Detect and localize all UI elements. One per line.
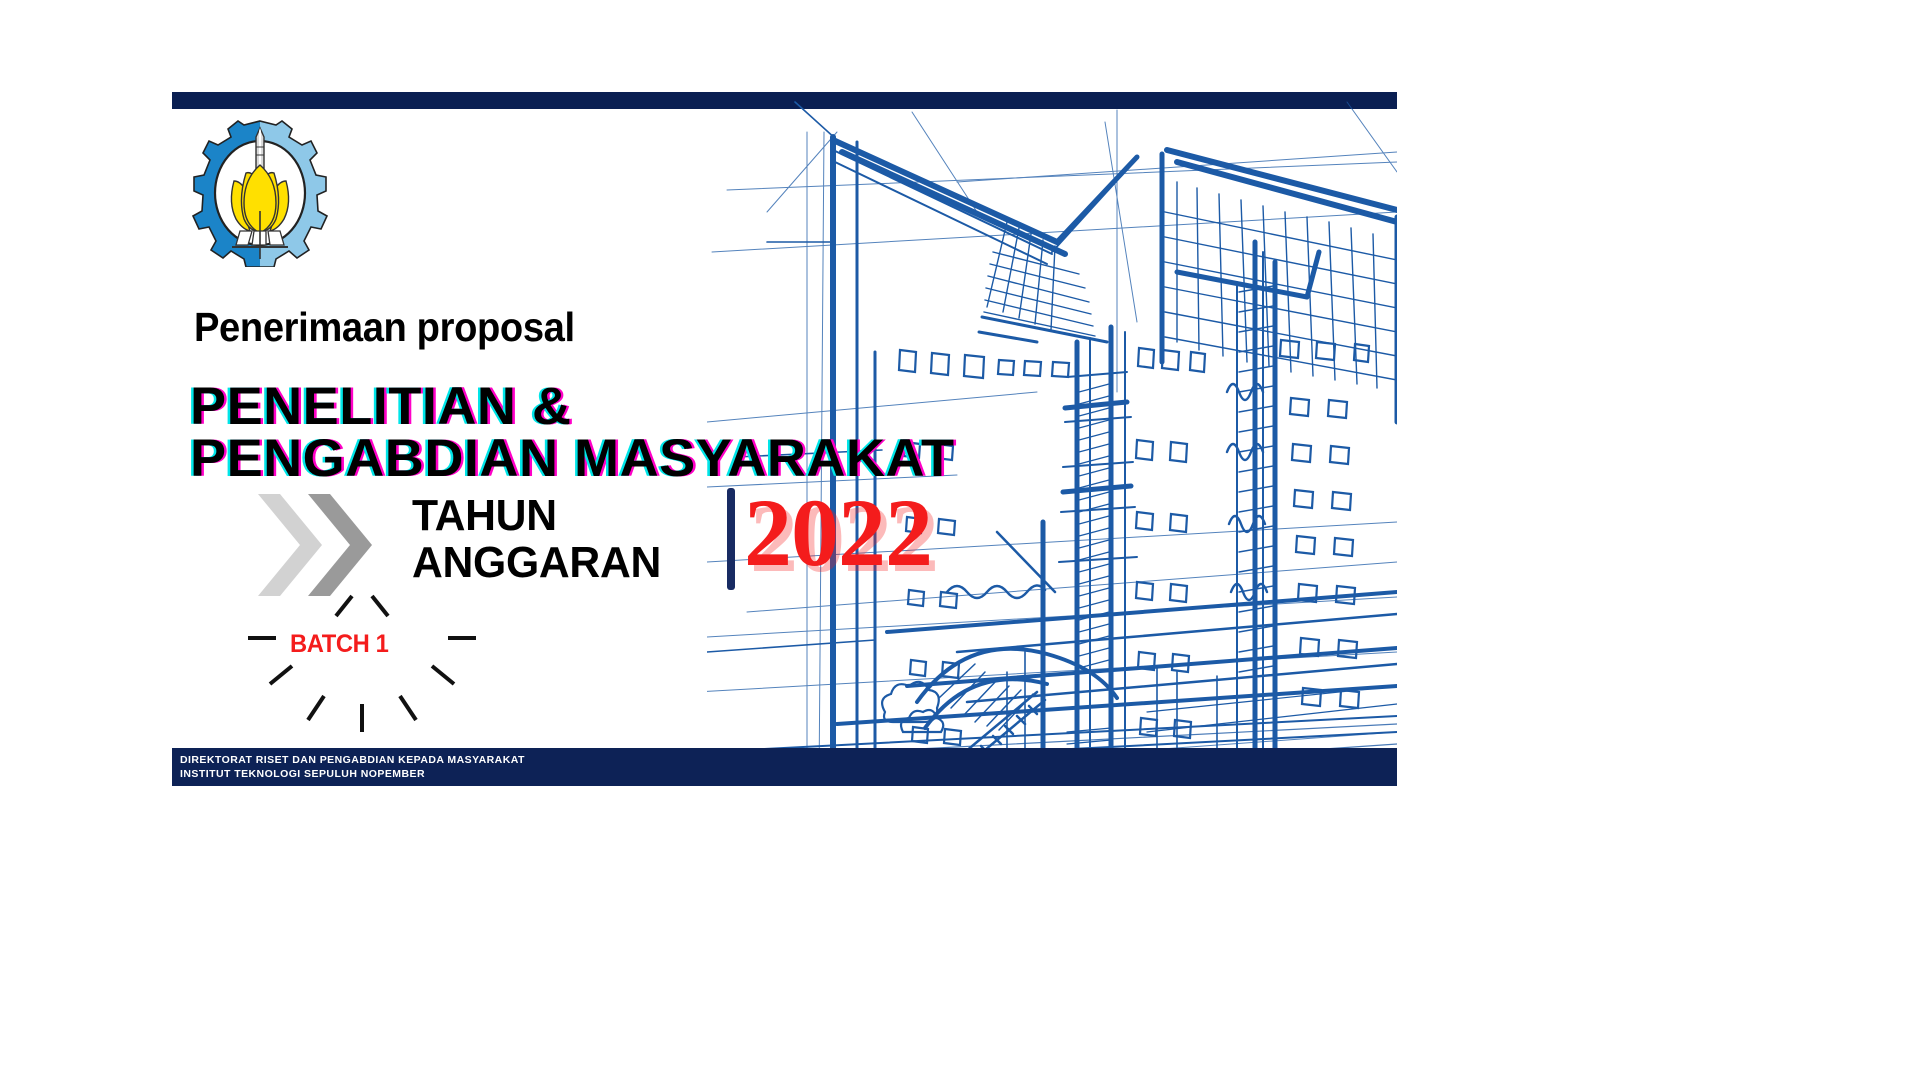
year-value: 2022 [744, 477, 932, 588]
sunburst-rays-icon [232, 592, 492, 752]
poster-slide: Penerimaan proposal PENELITIAN & PENGABD… [172, 92, 1397, 786]
footer-text: DIREKTORAT RISET DAN PENGABDIAN KEPADA M… [180, 753, 525, 781]
footer-bar: DIREKTORAT RISET DAN PENGABDIAN KEPADA M… [172, 748, 1397, 786]
vertical-divider [727, 488, 735, 590]
fiscal-year-label: TAHUN ANGGARAN [412, 492, 661, 586]
batch-label: BATCH 1 [290, 630, 389, 659]
chevron-right-icon [254, 490, 394, 600]
kicker-text: Penerimaan proposal [194, 304, 575, 351]
